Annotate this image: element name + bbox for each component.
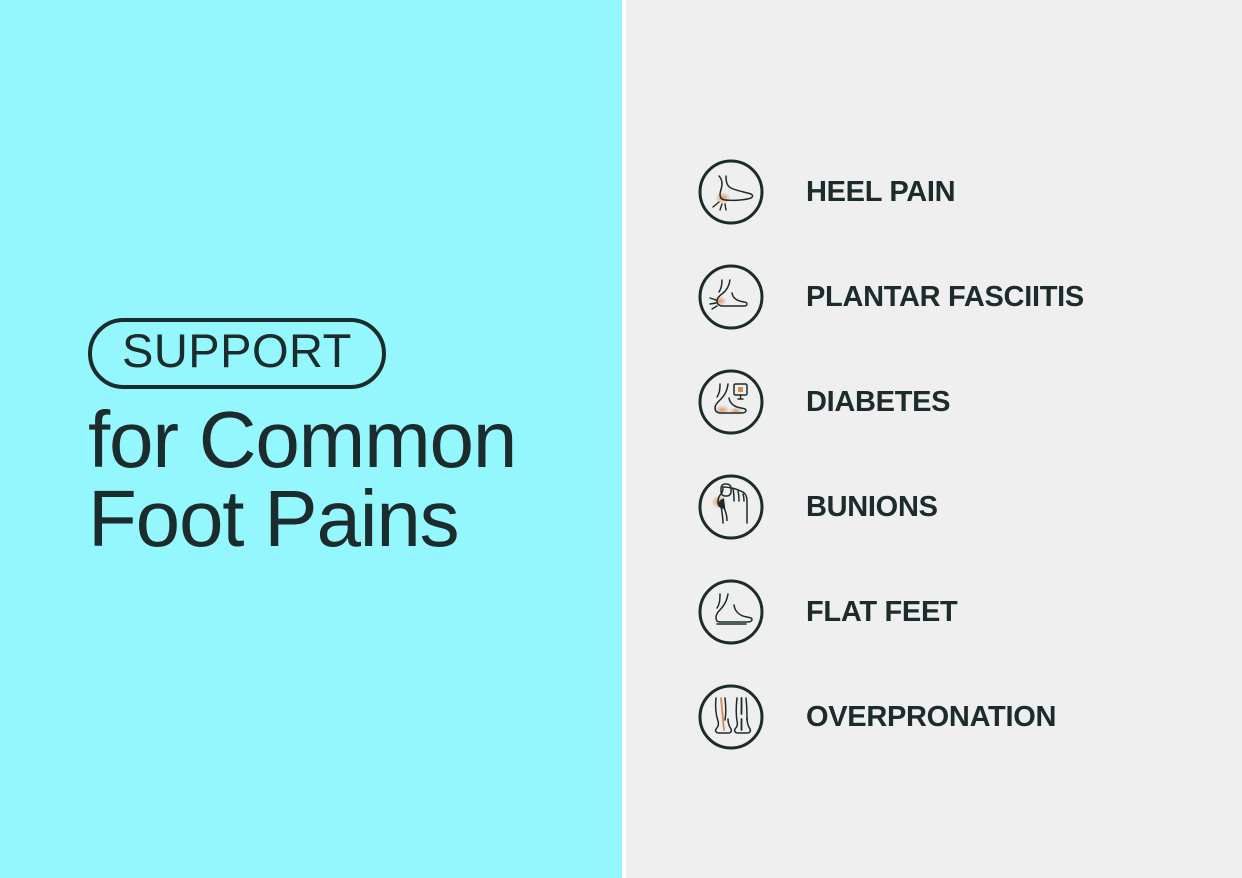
foot-condition-list: HEEL PAIN <box>697 158 1084 788</box>
list-item[interactable]: PLANTAR FASCIITIS <box>697 263 1084 331</box>
heel-pain-icon <box>697 158 765 226</box>
list-item[interactable]: OVERPRONATION <box>697 683 1084 751</box>
list-item[interactable]: FLAT FEET <box>697 578 1084 646</box>
poster-canvas: SUPPORT for Common Foot Pains <box>0 0 1242 878</box>
headline-line-1: for Common <box>88 400 608 479</box>
list-item-label: PLANTAR FASCIITIS <box>806 281 1084 314</box>
headline-block: SUPPORT for Common Foot Pains <box>88 318 608 558</box>
bunion-icon <box>697 473 765 541</box>
plantar-fasciitis-icon <box>697 263 765 331</box>
page-title: for Common Foot Pains <box>88 400 608 558</box>
diabetes-foot-icon <box>697 368 765 436</box>
list-item-label: HEEL PAIN <box>806 176 955 209</box>
list-item[interactable]: HEEL PAIN <box>697 158 1084 226</box>
right-content-panel: HEEL PAIN <box>626 0 1242 878</box>
list-item-label: OVERPRONATION <box>806 701 1056 734</box>
list-item-label: FLAT FEET <box>806 596 957 629</box>
support-badge: SUPPORT <box>88 318 386 389</box>
list-item[interactable]: BUNIONS <box>697 473 1084 541</box>
list-item[interactable]: DIABETES <box>697 368 1084 436</box>
flat-foot-icon <box>697 578 765 646</box>
headline-line-2: Foot Pains <box>88 479 608 558</box>
left-accent-panel: SUPPORT for Common Foot Pains <box>0 0 622 878</box>
list-item-label: DIABETES <box>806 386 950 419</box>
list-item-label: BUNIONS <box>806 491 938 524</box>
support-badge-label: SUPPORT <box>122 327 352 376</box>
overpronation-icon <box>697 683 765 751</box>
